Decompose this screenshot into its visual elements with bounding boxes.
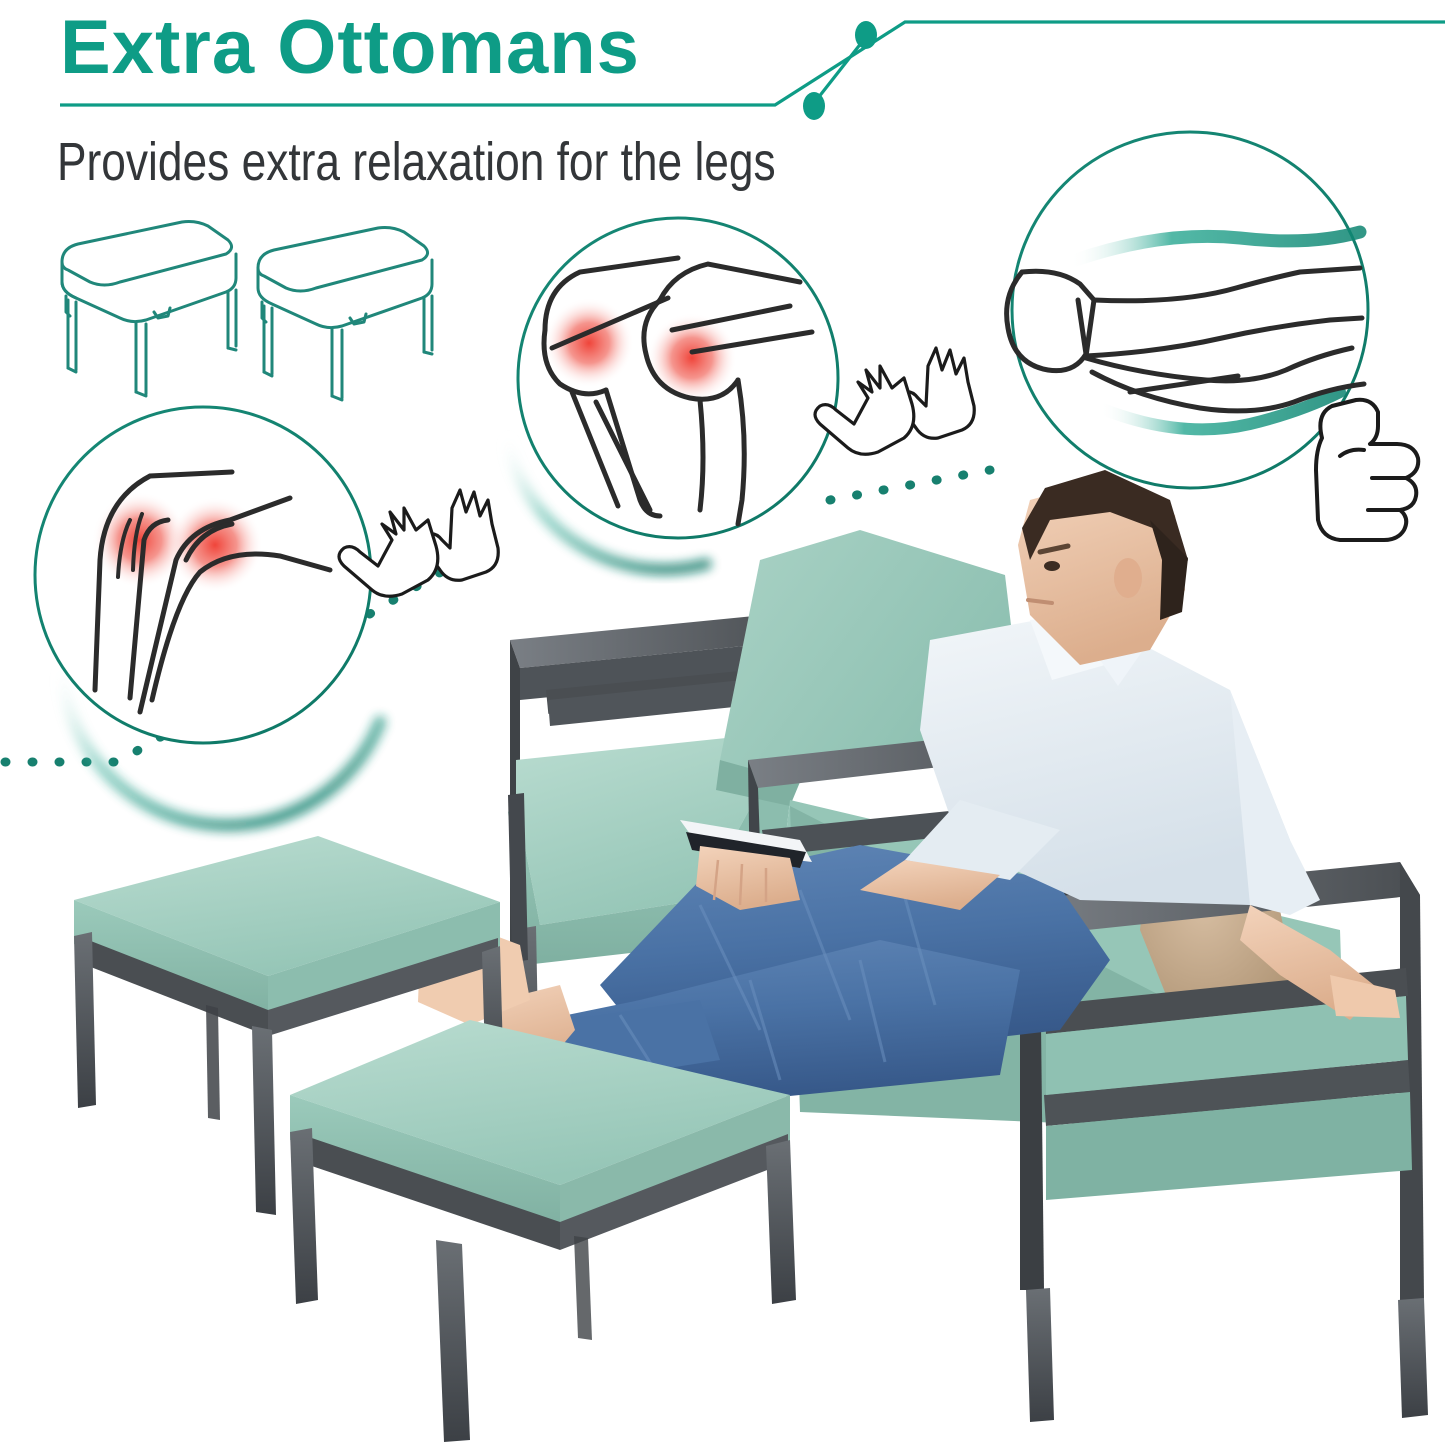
product-photo (0, 0, 1445, 1445)
page-subtitle: Provides extra relaxation for the legs (57, 131, 776, 193)
page-title: Extra Ottomans (60, 8, 640, 88)
product-feature-infographic: Extra Ottomans Provides extra relaxation… (0, 0, 1445, 1445)
ottoman-front (290, 1020, 796, 1442)
